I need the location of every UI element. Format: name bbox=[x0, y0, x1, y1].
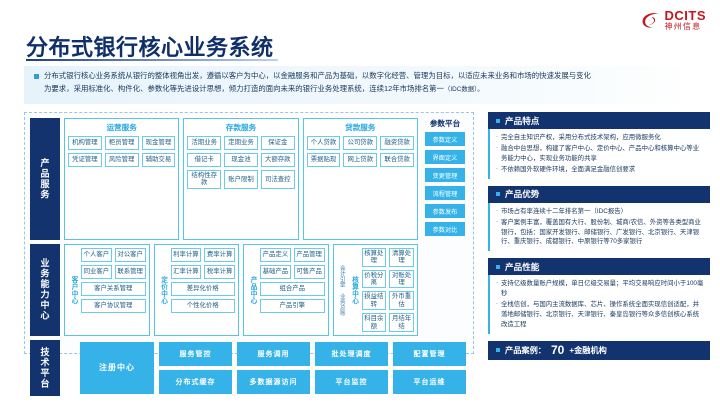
brand-logo: DCITS 神州信息 bbox=[640, 9, 707, 31]
square-bullet-icon bbox=[496, 192, 500, 196]
center-item[interactable]: 清算处理 bbox=[389, 248, 414, 267]
dot-bullet-icon: · bbox=[496, 165, 498, 175]
center-item[interactable]: 产品引擎 bbox=[260, 299, 325, 313]
service-item[interactable]: 定期业务 bbox=[224, 136, 258, 150]
info-list-item: ·不依赖国外软硬件环境，全面满足金融信创要求 bbox=[496, 165, 705, 175]
tech-button[interactable]: 多数据源访问 bbox=[237, 370, 310, 394]
page-title: 分布式银行核心业务系统 bbox=[26, 30, 274, 62]
band-label-product-service: 产品服务 bbox=[30, 118, 60, 240]
info-list-text: 全栈信创，与国内主流数据库、芯片、操作系统全面实现信创适配，并落地邮储银行、北京… bbox=[501, 300, 705, 330]
info-section-title: 产品特点 bbox=[505, 115, 539, 127]
center-item[interactable]: 价税分离 bbox=[362, 270, 387, 289]
service-item[interactable]: 融资贷款 bbox=[380, 136, 414, 150]
dot-bullet-icon: · bbox=[496, 300, 498, 330]
square-bullet-icon bbox=[496, 265, 500, 269]
capability-center-1: 定价中心利率计算费率计算汇率计算税率计算差异化价格个性化价格 bbox=[154, 244, 240, 336]
center-item[interactable]: 客户关系管理 bbox=[81, 282, 146, 296]
tech-button[interactable]: 批处理调度 bbox=[315, 342, 388, 366]
tech-button[interactable]: 分布式缓存 bbox=[159, 370, 232, 394]
tech-register-center[interactable]: 注册中心 bbox=[80, 342, 154, 394]
info-section-1: 产品优势·市场占有率连续十二年排名第一（IDC报告）·客户案例丰富，覆盖国有大行… bbox=[488, 186, 710, 252]
intro-line-2a: 为要求，采用标准化、构件化、参数化等先进设计思想，倾力打造的面向未来的银行业务处… bbox=[44, 84, 444, 93]
center-subtitle: 会计引擎 业务总账 bbox=[337, 248, 346, 332]
title-underline bbox=[26, 59, 278, 61]
parameter-platform-title: 参数平台 bbox=[430, 118, 460, 129]
tech-button[interactable]: 平台监控 bbox=[315, 370, 388, 394]
band-tech-platform: 技术平台 注册中心 服务管控分布式缓存 服务调用多数据源访问 批处理调度平台监控… bbox=[30, 340, 468, 396]
service-item[interactable]: 活期业务 bbox=[187, 136, 221, 150]
center-item[interactable]: 联系管理 bbox=[115, 265, 146, 279]
center-title: 定价中心 bbox=[158, 248, 168, 332]
param-button[interactable]: 界面定义 bbox=[425, 150, 465, 164]
tech-platform-row: 注册中心 服务管控分布式缓存 服务调用多数据源访问 批处理调度平台监控 配置管理… bbox=[64, 340, 468, 396]
architecture-diagram: 产品服务 运营服务机构管理柜员管理现金管理凭证管理风险管理辅助交易存款服务活期业… bbox=[24, 112, 474, 354]
center-item[interactable]: 个人客户 bbox=[81, 248, 112, 262]
service-item[interactable]: 公司贷款 bbox=[343, 136, 377, 150]
case-label: 产品案例： bbox=[505, 344, 546, 356]
info-section-0: 产品特点·完全自主知识产权，采用分布式技术架构，应用微服务化·融合中台思想，构建… bbox=[488, 112, 710, 179]
info-list-text: 客户案例丰富，覆盖国有大行、股份制、城商/农信、外资等各类型商业银行，包括：国家… bbox=[501, 218, 705, 248]
intro-banner: 分布式银行核心业务系统从银行的整体视角出发，遵循以客户为中心，以金融服务和产品为… bbox=[24, 66, 698, 104]
service-group-2: 贷款服务个人贷款公司贷款融资贷款票据贴现网上贷款联合贷款 bbox=[303, 118, 418, 240]
service-item[interactable]: 柜员管理 bbox=[105, 136, 139, 150]
service-item[interactable]: 保证金 bbox=[261, 136, 295, 150]
service-item[interactable]: 司法查控 bbox=[261, 170, 295, 189]
param-button[interactable]: 变更管理 bbox=[425, 168, 465, 182]
service-item[interactable]: 凭证管理 bbox=[68, 153, 102, 167]
logo-text: DCITS 神州信息 bbox=[665, 9, 707, 31]
info-section-title: 产品性能 bbox=[505, 261, 539, 273]
info-section-2: 产品性能·支持亿级数量账户规模，单日亿级交易量；平均交易响应时间小于100毫秒·… bbox=[488, 258, 710, 334]
parameter-platform: 参数平台 参数定义界面定义变更管理流程管理参数发布参数对比 bbox=[422, 118, 468, 240]
dot-bullet-icon: · bbox=[496, 218, 498, 248]
info-list-item: ·全栈信创，与国内主流数据库、芯片、操作系统全面实现信创适配，并落地邮储银行、北… bbox=[496, 300, 705, 330]
info-section-title: 产品优势 bbox=[505, 188, 539, 200]
center-item[interactable]: 对账处理 bbox=[389, 270, 414, 289]
service-item[interactable]: 机构管理 bbox=[68, 136, 102, 150]
info-list-text: 市场占有率连续十二年排名第一（IDC报告） bbox=[501, 207, 627, 217]
center-item[interactable]: 月结年结 bbox=[389, 313, 414, 332]
center-item[interactable]: 个性化价格 bbox=[171, 299, 236, 313]
logo-en: DCITS bbox=[665, 9, 707, 22]
service-item[interactable]: 账户限制 bbox=[224, 170, 258, 189]
center-item[interactable]: 产品定义 bbox=[260, 248, 291, 262]
service-item[interactable]: 结构性存款 bbox=[187, 170, 221, 189]
center-item[interactable]: 客户协议管理 bbox=[81, 299, 146, 313]
center-item[interactable]: 同业客户 bbox=[81, 265, 112, 279]
intro-text: 分布式银行核心业务系统从银行的整体视角出发，遵循以客户为中心，以金融服务和产品为… bbox=[44, 70, 591, 96]
param-button[interactable]: 流程管理 bbox=[425, 186, 465, 200]
service-item[interactable]: 联合贷款 bbox=[380, 153, 414, 167]
service-item[interactable]: 借记卡 bbox=[187, 153, 221, 167]
service-item[interactable]: 票据贴现 bbox=[307, 153, 341, 167]
param-button[interactable]: 参数对比 bbox=[425, 222, 465, 236]
center-item[interactable]: 税率计算 bbox=[204, 265, 235, 279]
info-list-item: ·支持亿级数量账户规模，单日亿级交易量；平均交易响应时间小于100毫秒 bbox=[496, 279, 705, 299]
product-case-banner: 产品案例： 70+金融机构 bbox=[488, 341, 710, 360]
case-suffix: +金融机构 bbox=[569, 344, 607, 356]
param-button[interactable]: 参数发布 bbox=[425, 204, 465, 218]
dot-bullet-icon: · bbox=[496, 144, 498, 164]
center-item[interactable]: 组合产品 bbox=[260, 282, 325, 296]
center-item[interactable]: 科目余额 bbox=[362, 313, 387, 332]
center-item[interactable]: 可售产品 bbox=[294, 265, 325, 279]
tech-button[interactable]: 服务调用 bbox=[237, 342, 310, 366]
center-title: 客户中心 bbox=[68, 248, 78, 332]
info-panel: 产品特点·完全自主知识产权，采用分布式技术架构，应用微服务化·融合中台思想，构建… bbox=[488, 112, 710, 354]
service-group-title: 运营服务 bbox=[68, 122, 175, 133]
info-section-body: ·完全自主知识产权，采用分布式技术架构，应用微服务化·融合中台思想，构建了客户中… bbox=[488, 129, 710, 179]
bullet-icon bbox=[34, 74, 39, 79]
center-item[interactable]: 差异化价格 bbox=[171, 282, 236, 296]
param-button[interactable]: 参数定义 bbox=[425, 132, 465, 146]
service-item[interactable]: 风险管理 bbox=[105, 153, 139, 167]
info-section-header: 产品优势 bbox=[488, 186, 710, 203]
info-section-header: 产品性能 bbox=[488, 258, 710, 275]
service-item[interactable]: 大额存款 bbox=[261, 153, 295, 167]
tech-button[interactable]: 平台运维 bbox=[393, 370, 466, 394]
service-item[interactable]: 现金管理 bbox=[142, 136, 176, 150]
band-label-capability-center: 业务能力中心 bbox=[30, 244, 60, 336]
capability-center-3: 会计引擎 业务总账核算中心核算处理清算处理价税分离对账处理损益结转外币重估科目余… bbox=[333, 244, 419, 336]
center-item[interactable]: 产品管理 bbox=[294, 248, 325, 262]
center-item[interactable]: 汇率计算 bbox=[171, 265, 202, 279]
band-product-service: 产品服务 运营服务机构管理柜员管理现金管理凭证管理风险管理辅助交易存款服务活期业… bbox=[30, 118, 468, 240]
tech-button[interactable]: 配置管理 bbox=[393, 342, 466, 366]
capability-center-2: 产品中心产品定义产品管理基础产品可售产品组合产品产品引擎 bbox=[243, 244, 329, 336]
info-list-item: ·市场占有率连续十二年排名第一（IDC报告） bbox=[496, 207, 705, 217]
dot-bullet-icon: · bbox=[496, 207, 498, 217]
service-item[interactable]: 现金池 bbox=[224, 153, 258, 167]
band-capability-center: 业务能力中心 客户中心个人客户对公客户同业客户联系管理客户关系管理客户协议管理定… bbox=[30, 244, 468, 336]
center-item[interactable]: 核算处理 bbox=[362, 248, 387, 267]
center-item[interactable]: 损益结转 bbox=[362, 291, 387, 310]
info-list-text: 融合中台思想，构建了客户中心、定价中心、产品中心和核算中心等业务能力中心，实现业… bbox=[501, 144, 705, 164]
service-item[interactable]: 网上贷款 bbox=[343, 153, 377, 167]
center-item[interactable]: 费率计算 bbox=[204, 248, 235, 262]
intro-line-1: 分布式银行核心业务系统从银行的整体视角出发，遵循以客户为中心，以金融服务和产品为… bbox=[44, 71, 591, 80]
square-bullet-icon bbox=[496, 348, 500, 352]
service-group-title: 存款服务 bbox=[187, 122, 294, 133]
service-group-1: 存款服务活期业务定期业务保证金借记卡现金池大额存款结构性存款账户限制司法查控 bbox=[183, 118, 298, 240]
info-section-body: ·市场占有率连续十二年排名第一（IDC报告）·客户案例丰富，覆盖国有大行、股份制… bbox=[488, 203, 710, 252]
info-list-text: 支持亿级数量账户规模，单日亿级交易量；平均交易响应时间小于100毫秒 bbox=[501, 279, 705, 299]
tech-button[interactable]: 服务管控 bbox=[159, 342, 232, 366]
dot-bullet-icon: · bbox=[496, 279, 498, 299]
capability-center-0: 客户中心个人客户对公客户同业客户联系管理客户关系管理客户协议管理 bbox=[64, 244, 150, 336]
center-title: 核算中心 bbox=[349, 248, 359, 332]
center-item[interactable]: 基础产品 bbox=[260, 265, 291, 279]
logo-cn: 神州信息 bbox=[665, 23, 707, 31]
service-item[interactable]: 辅助交易 bbox=[142, 153, 176, 167]
service-item[interactable]: 个人贷款 bbox=[307, 136, 341, 150]
case-number: 70 bbox=[551, 343, 564, 357]
band-label-tech-platform: 技术平台 bbox=[30, 340, 60, 396]
center-item[interactable]: 外币重估 bbox=[389, 291, 414, 310]
center-item[interactable]: 利率计算 bbox=[171, 248, 202, 262]
info-list-text: 不依赖国外软硬件环境，全面满足金融信创要求 bbox=[501, 165, 635, 175]
info-section-header: 产品特点 bbox=[488, 112, 710, 129]
info-list-item: ·客户案例丰富，覆盖国有大行、股份制、城商/农信、外资等各类型商业银行，包括：国… bbox=[496, 218, 705, 248]
center-item[interactable]: 对公客户 bbox=[115, 248, 146, 262]
info-list-item: ·融合中台思想，构建了客户中心、定价中心、产品中心和核算中心等业务能力中心，实现… bbox=[496, 144, 705, 164]
center-title: 产品中心 bbox=[247, 248, 257, 332]
service-group-0: 运营服务机构管理柜员管理现金管理凭证管理风险管理辅助交易 bbox=[64, 118, 179, 240]
info-list-text: 完全自主知识产权，采用分布式技术架构，应用微服务化 bbox=[501, 133, 661, 143]
service-group-title: 贷款服务 bbox=[307, 122, 414, 133]
dot-bullet-icon: · bbox=[496, 133, 498, 143]
info-list-item: ·完全自主知识产权，采用分布式技术架构，应用微服务化 bbox=[496, 133, 705, 143]
info-section-body: ·支持亿级数量账户规模，单日亿级交易量；平均交易响应时间小于100毫秒·全栈信创… bbox=[488, 275, 710, 334]
intro-line-2b: （IDC数据）。 bbox=[444, 86, 484, 93]
square-bullet-icon bbox=[496, 119, 500, 123]
swoosh-logo-icon bbox=[640, 10, 661, 31]
